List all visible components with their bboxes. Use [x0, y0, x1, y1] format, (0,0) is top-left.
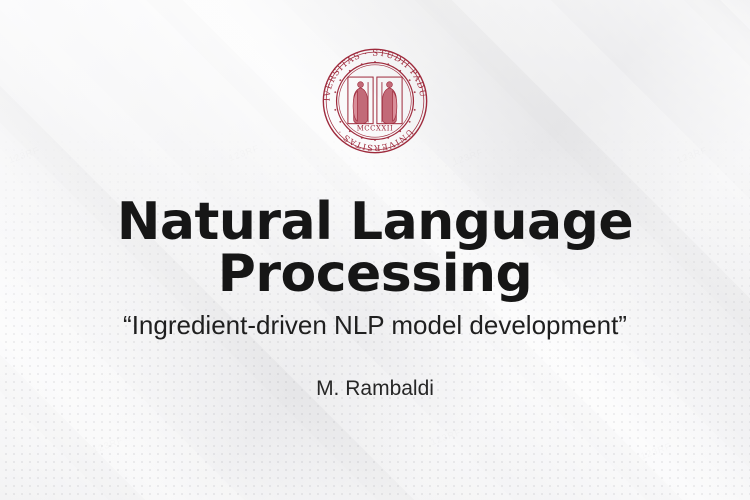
page-title: Natural Language Processing [0, 196, 750, 300]
slide-content: UNIVERSITAS · STUDII PADUANI UNIVERSITAS… [0, 0, 750, 500]
seal-foundation-year: MCCXXII [357, 125, 394, 133]
university-seal-icon: UNIVERSITAS · STUDII PADUANI UNIVERSITAS… [312, 38, 438, 164]
title-slide: 123RF 123RF 123RF 123RF 123RF 123RF 123R… [0, 0, 750, 500]
author-name: M. Rambaldi [0, 378, 750, 399]
slide-subtitle: “Ingredient-driven NLP model development… [0, 312, 750, 338]
